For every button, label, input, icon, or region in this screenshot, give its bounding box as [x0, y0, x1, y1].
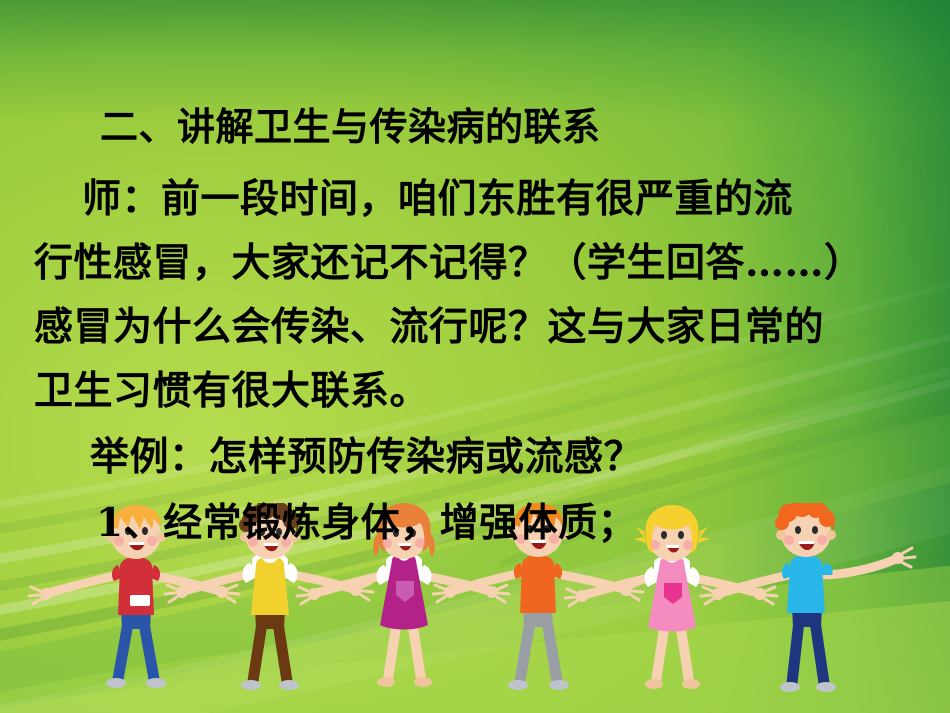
slide-heading: 二、讲解卫生与传染病的联系 [100, 96, 601, 151]
body-line-1: 师：前一段时间，咱们东胜有很严重的流 [82, 168, 793, 224]
body-line-4: 卫生习惯有很大联系。 [34, 360, 429, 416]
slide-text-content: 二、讲解卫生与传染病的联系 师：前一段时间，咱们东胜有很严重的流 行性感冒，大家… [0, 0, 950, 713]
body-line-3: 感冒为什么会传染、流行呢？这与大家日常的 [34, 296, 824, 352]
presentation-slide: 二、讲解卫生与传染病的联系 师：前一段时间，咱们东胜有很严重的流 行性感冒，大家… [0, 0, 950, 713]
body-line-2: 行性感冒，大家还记不记得？（学生回答……） [34, 232, 864, 288]
body-line-6: 1、经常锻炼身体，增强体质； [96, 492, 637, 548]
body-line-5: 举例：怎样预防传染病或流感？ [90, 426, 643, 482]
